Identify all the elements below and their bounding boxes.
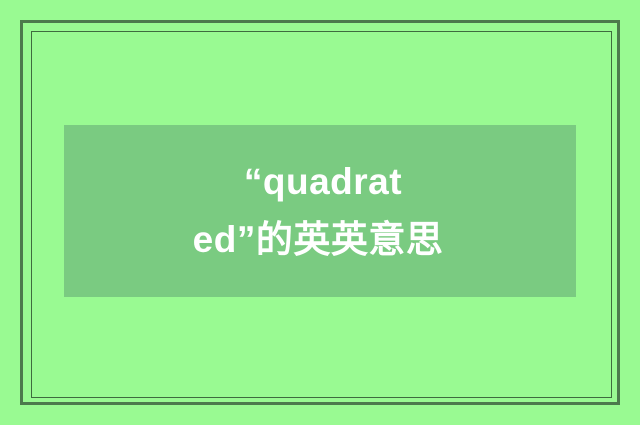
poster-canvas: “quadrat ed”的英英意思 — [0, 0, 640, 425]
page-title: “quadrat ed”的英英意思 — [64, 153, 576, 269]
content-panel: “quadrat ed”的英英意思 — [64, 125, 576, 297]
page-title-line-2: ed”的英英意思 — [64, 211, 576, 269]
page-title-line-1: “quadrat — [64, 153, 576, 211]
